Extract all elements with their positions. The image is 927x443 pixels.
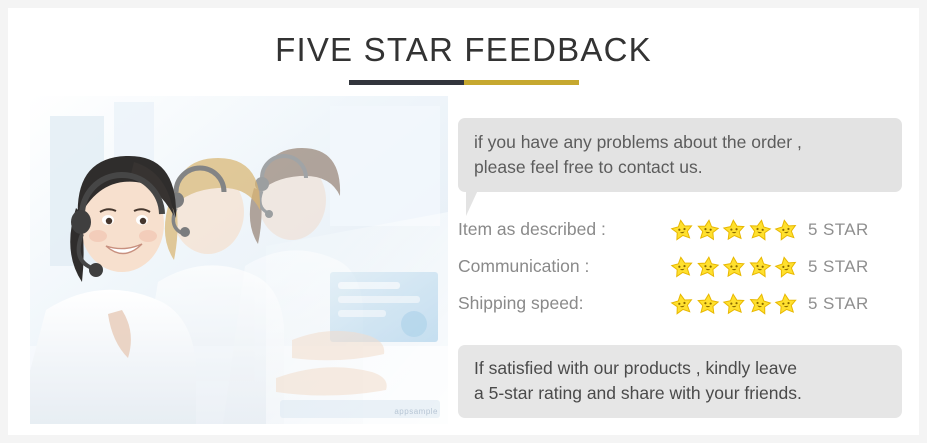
contact-message-line-1: if you have any problems about the order… xyxy=(474,130,886,155)
star-icon xyxy=(748,292,772,316)
ratings-list: Item as described : 5 STAR Communication… xyxy=(458,211,908,322)
star-icon xyxy=(774,255,798,279)
satisfaction-note-line-1: If satisfied with our products , kindly … xyxy=(474,356,886,381)
rating-value: 5 STAR xyxy=(808,257,869,277)
rating-stars xyxy=(670,218,808,242)
rating-value: 5 STAR xyxy=(808,220,869,240)
rating-label: Shipping speed: xyxy=(458,293,670,314)
star-icon xyxy=(696,255,720,279)
rating-label: Communication : xyxy=(458,256,670,277)
rating-value: 5 STAR xyxy=(808,294,869,314)
rating-stars xyxy=(670,255,808,279)
star-icon xyxy=(722,255,746,279)
rating-label: Item as described : xyxy=(458,219,670,240)
rating-row: Communication : 5 STAR xyxy=(458,248,908,285)
star-icon xyxy=(670,292,694,316)
call-center-photo: appsample xyxy=(30,96,448,424)
star-icon xyxy=(774,218,798,242)
star-icon xyxy=(670,255,694,279)
photo-watermark: appsample xyxy=(394,407,438,416)
title-underline-dark-segment xyxy=(349,80,464,85)
star-icon xyxy=(696,218,720,242)
star-icon xyxy=(670,218,694,242)
feedback-card: FIVE STAR FEEDBACK xyxy=(8,8,919,435)
star-icon xyxy=(722,292,746,316)
contact-message-line-2: please feel free to contact us. xyxy=(474,155,886,180)
rating-row: Item as described : 5 STAR xyxy=(458,211,908,248)
satisfaction-note-line-2: a 5-star rating and share with your frie… xyxy=(474,381,886,406)
rating-stars xyxy=(670,292,808,316)
star-icon xyxy=(748,218,772,242)
star-icon xyxy=(748,255,772,279)
contact-message-bubble: if you have any problems about the order… xyxy=(458,118,902,192)
feedback-banner: FIVE STAR FEEDBACK xyxy=(0,0,927,443)
star-icon xyxy=(774,292,798,316)
star-icon xyxy=(696,292,720,316)
star-icon xyxy=(722,218,746,242)
rating-row: Shipping speed: 5 STAR xyxy=(458,285,908,322)
satisfaction-note: If satisfied with our products , kindly … xyxy=(458,345,902,418)
feedback-details: if you have any problems about the order… xyxy=(458,8,908,435)
call-center-photo-illustration xyxy=(30,96,448,424)
